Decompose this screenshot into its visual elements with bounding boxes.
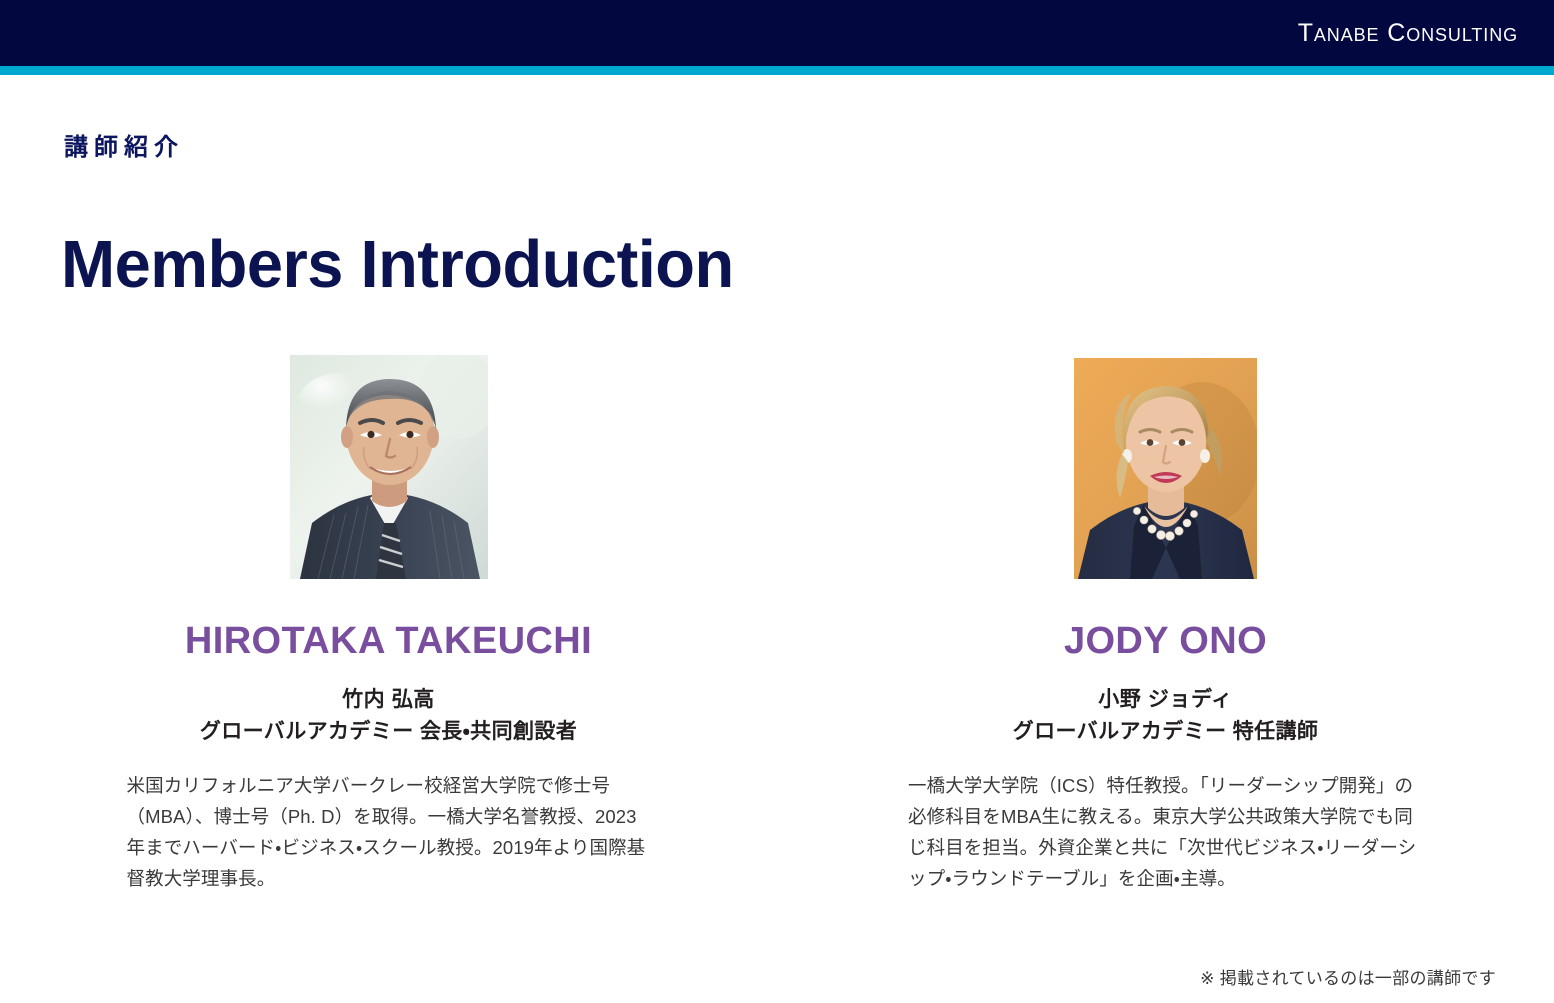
member-bio: 一橋大学大学院（ICS）特任教授。「リーダーシップ開発」の必修科目をMBA生に教… xyxy=(908,770,1423,894)
member-role: グローバルアカデミー 特任講師 xyxy=(1013,716,1319,748)
member-card-ono: JODY ONO 小野 ジョディ グローバルアカデミー 特任講師 一橋大学大学院… xyxy=(777,355,1554,913)
member-bio: 米国カリフォルニア大学バークレー校経営大学院で修士号（MBA）、博士号（Ph. … xyxy=(127,770,651,894)
member-card-takeuchi: HIROTAKA TAKEUCHI 竹内 弘高 グローバルアカデミー 会長・共同… xyxy=(0,355,777,913)
member-name: JODY ONO xyxy=(1064,620,1267,662)
page-title: Members Introduction xyxy=(61,225,734,305)
tanabe-consulting-logo: Tanabe Consulting xyxy=(1298,19,1518,47)
member-japanese-name: 竹内 弘高 xyxy=(342,684,435,716)
portrait-jody-ono xyxy=(1074,358,1257,579)
member-japanese-name: 小野 ジョディ xyxy=(1098,684,1233,716)
page-eyebrow: 講師紹介 xyxy=(64,133,184,163)
footnote-note: ※ 掲載されているのは一部の講師です xyxy=(1200,967,1496,991)
portrait-hirotaka-takeuchi xyxy=(290,355,488,579)
header-accent-strip xyxy=(0,66,1554,75)
member-role: グローバルアカデミー 会長・共同創設者 xyxy=(200,716,577,748)
member-name: HIROTAKA TAKEUCHI xyxy=(185,620,592,662)
header-bar: Tanabe Consulting xyxy=(0,0,1554,66)
members-list: HIROTAKA TAKEUCHI 竹内 弘高 グローバルアカデミー 会長・共同… xyxy=(0,355,1554,913)
